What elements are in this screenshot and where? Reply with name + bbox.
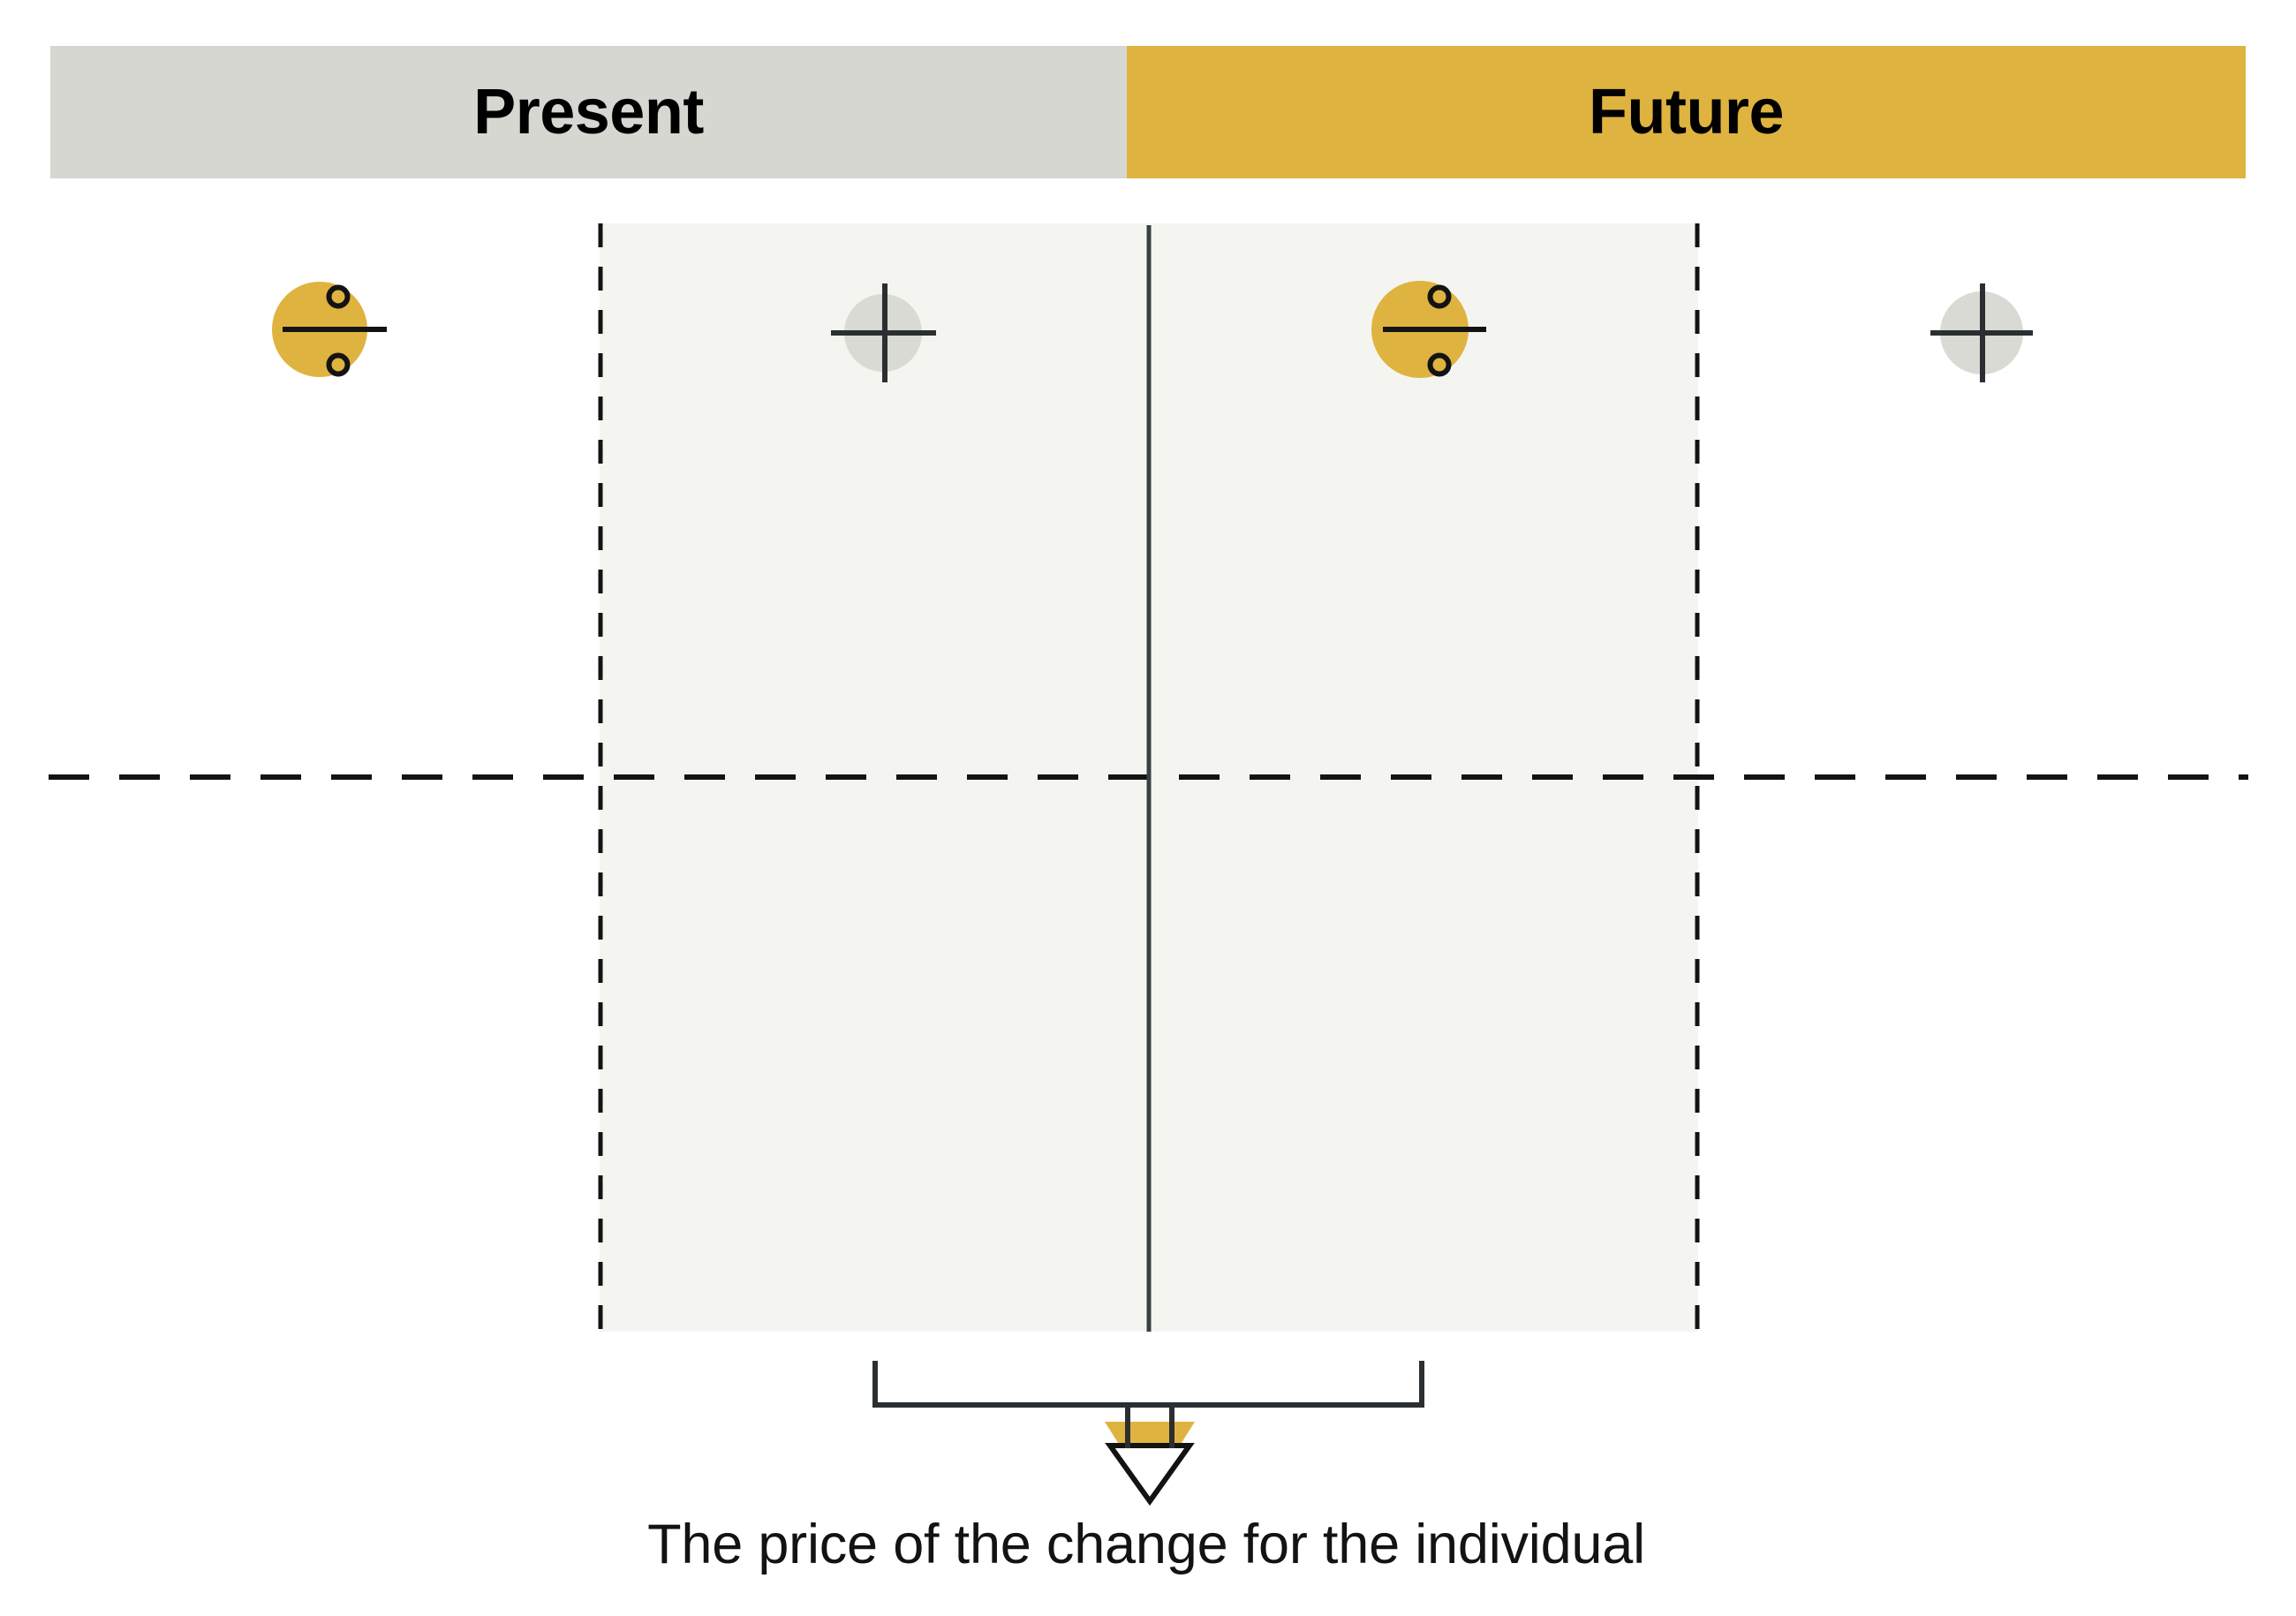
header-segment-present[interactable]: Present <box>50 46 1127 178</box>
upper-node-icon <box>1431 288 1449 306</box>
diagram-canvas: Present Future <box>0 0 2296 1616</box>
bracket-path <box>875 1361 1422 1405</box>
arrow-outline-triangle <box>1110 1446 1190 1501</box>
yellow-disc-icon <box>272 282 367 377</box>
marker-future-inside-state[interactable] <box>1371 281 1486 378</box>
marker-present-outside-state[interactable] <box>272 282 387 377</box>
diagram-svg <box>0 0 2296 1616</box>
upper-node-icon <box>329 288 348 306</box>
marker-present-inside-state[interactable] <box>831 283 936 382</box>
header-label-future: Future <box>1589 80 1784 144</box>
gray-disc-icon <box>844 294 922 372</box>
price-bracket <box>875 1361 1422 1405</box>
header-segment-future[interactable]: Future <box>1127 46 2246 178</box>
change-zone-panel <box>600 223 1698 1332</box>
marker-future-outside-state[interactable] <box>1930 283 2033 382</box>
lower-node-icon <box>1431 356 1449 374</box>
header-bar: Present Future <box>50 46 2246 178</box>
yellow-disc-icon <box>1371 281 1469 378</box>
arrow-fill-triangle <box>1105 1422 1195 1493</box>
gray-disc-icon <box>1940 291 2023 374</box>
lower-node-icon <box>329 356 348 374</box>
caption-block: The price of the change for the individu… <box>0 1515 2296 1574</box>
price-arrow <box>875 1405 1422 1501</box>
header-label-present: Present <box>473 80 704 144</box>
caption-text: The price of the change for the individu… <box>647 1515 1645 1574</box>
